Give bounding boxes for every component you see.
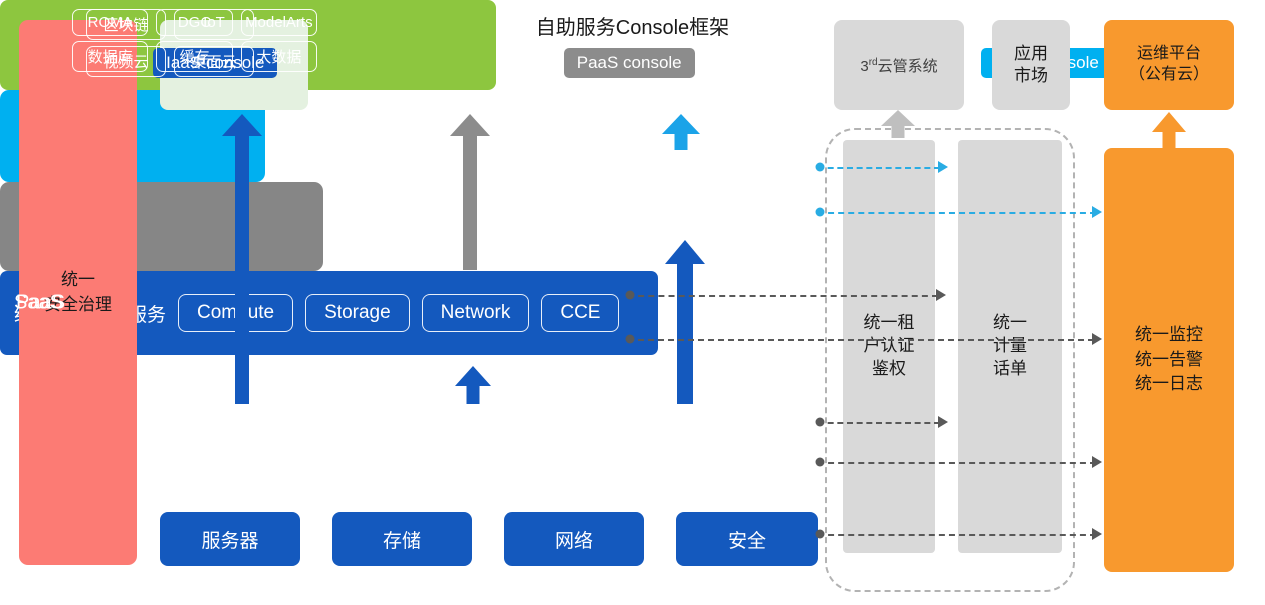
hardware-item-network[interactable]: 网络 [504,512,644,566]
connector-infra-to-ops [818,462,1096,464]
arrow-infra-to-paas [455,366,491,404]
arrow-infra-to-api-gateway [222,114,262,404]
architecture-diagram: 统一 安全治理 API网关 自助服务Console框架 IaaS console… [0,0,1265,605]
arrow-infra-to-saas [665,240,705,404]
chip-paas-console[interactable]: PaaS console [564,48,695,78]
connector-infra-to-auth [818,422,940,424]
panel-unified-monitoring-alarm-log: 统一监控 统一告警 统一日志 [1104,148,1234,572]
infrastructure-item-storage[interactable]: Storage [305,294,410,332]
connector-dot-paas-auth [626,291,635,300]
connector-dot-infra-ops [816,458,825,467]
panel-unified-tenant-auth: 统一租 户认证 鉴权 [843,140,935,553]
connector-saas-to-ops [818,212,1096,214]
connector-paas-to-ops [628,339,1094,341]
arrow-paas-to-console [450,114,490,270]
connector-arrow-infra-auth [938,416,948,428]
panel-ops-platform-public-cloud: 运维平台 （公有云） [1104,20,1234,110]
infrastructure-item-cce[interactable]: CCE [541,294,619,332]
connector-dot-infra-auth [816,418,825,427]
hardware-item-storage[interactable]: 存储 [332,512,472,566]
connector-arrow-saas-ops [1092,206,1102,218]
connector-arrow-infra-ops [1092,456,1102,468]
paas-service-grid: ROMA DGC ModelArts 数据库 缓存 大数据 [72,9,317,72]
hardware-item-server[interactable]: 服务器 [160,512,300,566]
paas-item-dgc[interactable]: DGC [156,9,232,36]
connector-arrow-hardware-ops [1092,528,1102,540]
connector-arrow-paas-auth [936,289,946,301]
paas-item-cache[interactable]: 缓存 [156,41,232,72]
third-party-label: 3rd云管系统 [860,55,937,76]
connector-dot-paas-ops [626,335,635,344]
paas-label: PaaS [16,291,65,314]
connector-arrow-saas-auth [938,161,948,173]
connector-arrow-paas-ops [1092,333,1102,345]
connector-hardware-to-ops [818,534,1096,536]
arrow-to-ops-platform [1151,112,1187,148]
connector-dot-saas-ops [816,208,825,217]
paas-item-modelarts[interactable]: ModelArts [241,9,317,36]
connector-dot-saas-auth [816,163,825,172]
connector-saas-to-auth [818,167,940,169]
infrastructure-item-network[interactable]: Network [422,294,530,332]
arrow-shared-to-third-party [880,110,916,138]
connector-paas-to-auth [628,295,938,297]
panel-unified-metering-billing: 统一 计量 话单 [958,140,1062,553]
panel-third-party-cloud-management: 3rd云管系统 [834,20,964,110]
arrow-saas-to-console [662,114,700,150]
hardware-item-security[interactable]: 安全 [676,512,818,566]
paas-item-bigdata[interactable]: 大数据 [241,41,317,72]
panel-app-market: 应用 市场 [992,20,1070,110]
connector-dot-hardware-ops [816,530,825,539]
paas-item-roma[interactable]: ROMA [72,9,148,36]
paas-item-database[interactable]: 数据库 [72,41,148,72]
